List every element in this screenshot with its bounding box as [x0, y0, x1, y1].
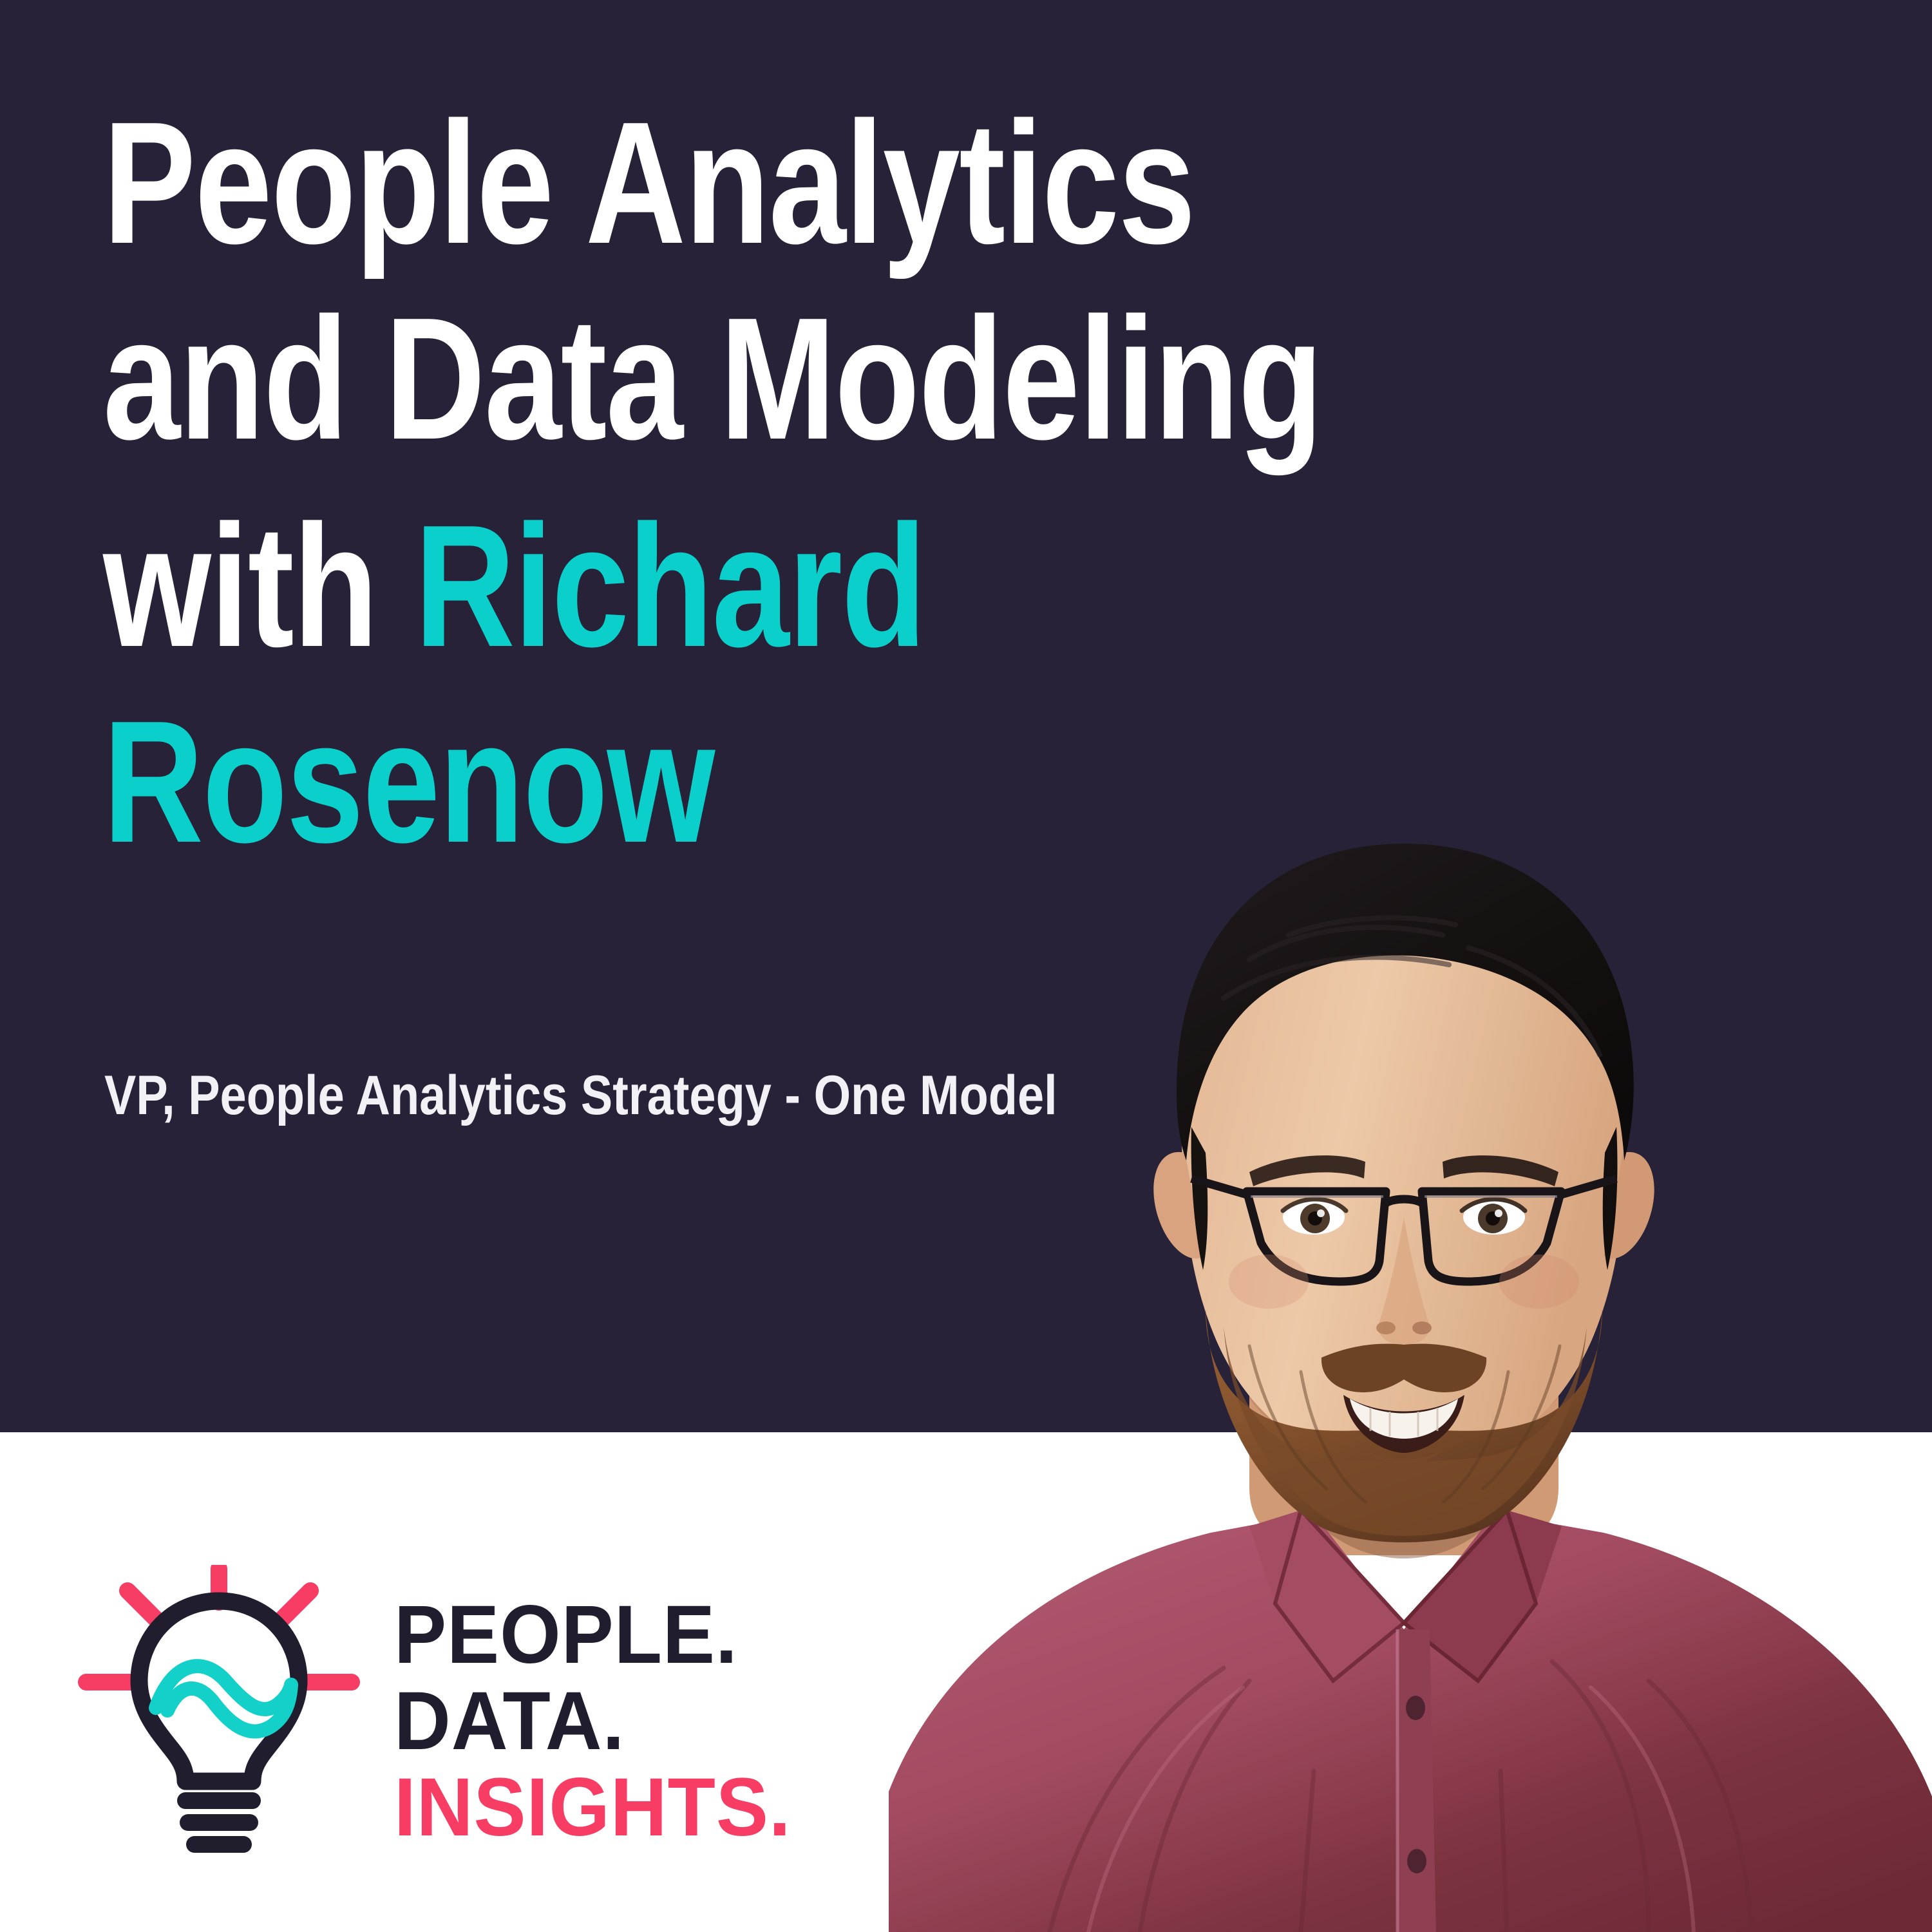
podcast-cover-art: People Analytics and Data Modeling with …: [0, 0, 1932, 1932]
brand-logo-lockup: PEOPLE. DATA. INSIGHTS.: [77, 1565, 812, 1868]
guest-portrait: [889, 766, 1932, 1932]
guest-first-name: Richard: [415, 489, 925, 683]
title-line-2: and Data Modeling: [103, 292, 1494, 466]
wordmark-people: PEOPLE.: [394, 1596, 791, 1674]
brand-wordmark: PEOPLE. DATA. INSIGHTS.: [394, 1586, 812, 1847]
lightbulb-icon: [77, 1565, 361, 1868]
wordmark-insights: INSIGHTS.: [394, 1769, 791, 1846]
title-line-3: with Richard: [103, 500, 1494, 674]
wordmark-data: DATA.: [394, 1683, 791, 1760]
title-with-prefix: with: [103, 489, 415, 683]
title-line-1: People Analytics: [103, 97, 1494, 270]
